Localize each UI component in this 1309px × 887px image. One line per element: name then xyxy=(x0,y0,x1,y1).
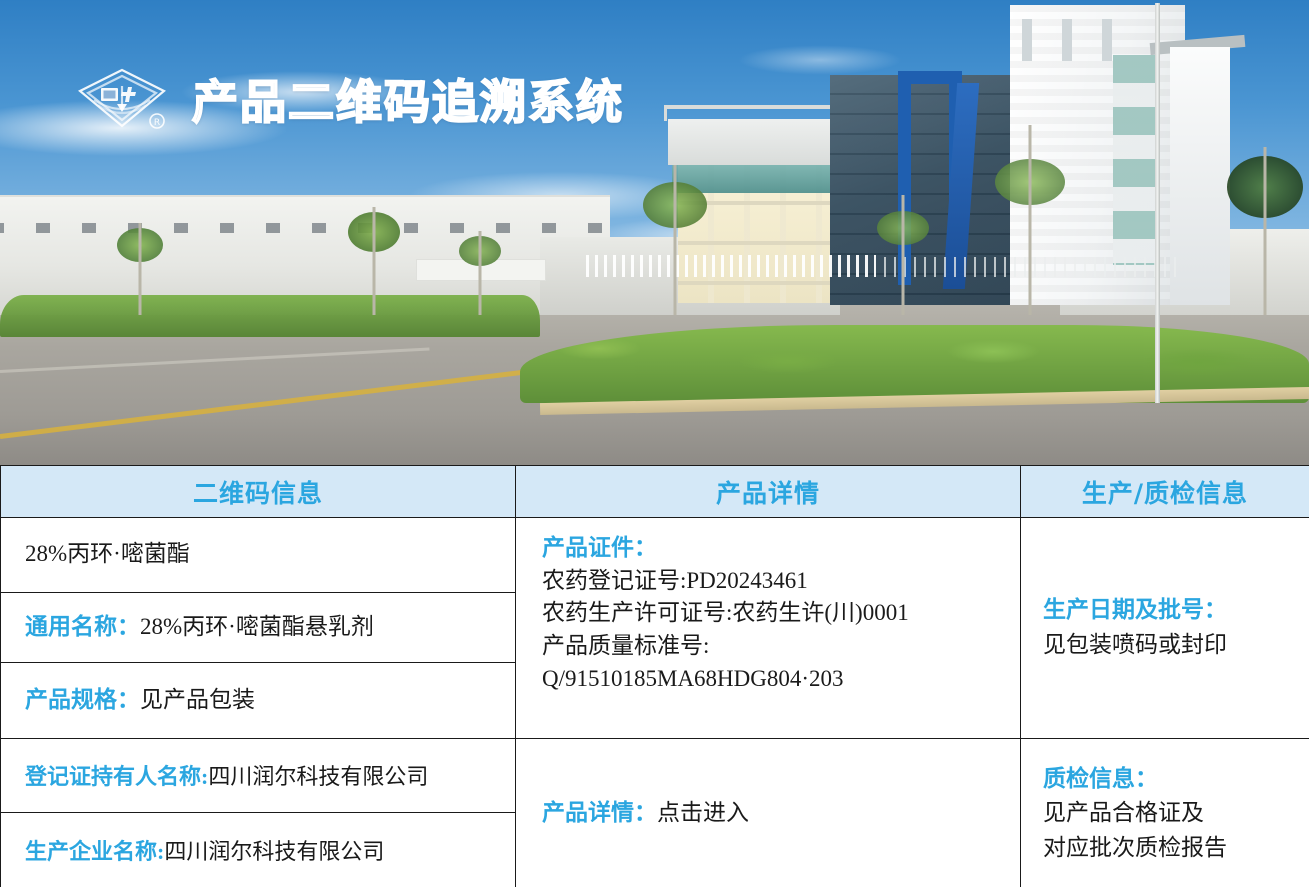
column-header-production-qc: 生产/质检信息 xyxy=(1021,466,1309,518)
tree xyxy=(462,231,498,315)
quality-standard-number: Q/91510185MA68HDG804·203 xyxy=(542,663,994,696)
column-header-product-detail-label: 产品详情 xyxy=(716,479,820,508)
qc-row-info: 质检信息： 见产品合格证及 对应批次质检报告 xyxy=(1021,738,1309,887)
tree xyxy=(120,223,160,315)
column-header-production-qc-label: 生产/质检信息 xyxy=(1082,479,1248,508)
tree xyxy=(880,195,926,315)
qc-info-label: 质检信息： xyxy=(1043,762,1287,797)
date-batch-value: 见包装喷码或封印 xyxy=(1043,628,1287,663)
quality-standard-label: 产品质量标准号: xyxy=(542,630,994,663)
spec-label: 产品规格： xyxy=(25,687,140,712)
qc-info-cell: 质检信息： 见产品合格证及 对应批次质检报告 xyxy=(1021,738,1309,887)
qr-row-product-name: 28%丙环·嘧菌酯 xyxy=(1,518,515,592)
common-name-label: 通用名称： xyxy=(25,614,140,639)
common-name-value: 28%丙环·嘧菌酯悬乳剂 xyxy=(140,614,374,639)
product-detail-link[interactable]: 点击进入 xyxy=(657,800,749,825)
qr-info-cell: 28%丙环·嘧菌酯 通用名称：28%丙环·嘧菌酯悬乳剂 产品规格：见产品包装 xyxy=(1,518,516,887)
common-name-cell: 通用名称：28%丙环·嘧菌酯悬乳剂 xyxy=(1,592,515,662)
holder-cell: 登记证持有人名称:四川润尔科技有限公司 xyxy=(1,738,515,812)
page-title: 产品二维码追溯系统 xyxy=(192,66,624,132)
spec-value: 见产品包装 xyxy=(140,687,255,712)
product-detail-link-cell[interactable]: 产品详情：点击进入 xyxy=(516,738,1020,887)
product-detail-cell: 产品证件： 农药登记证号:PD20243461 农药生产许可证号:农药生许(川)… xyxy=(516,518,1021,887)
detail-row-certificates: 产品证件： 农药登记证号:PD20243461 农药生产许可证号:农药生许(川)… xyxy=(516,518,1020,738)
spec-cell: 产品规格：见产品包装 xyxy=(1,662,515,738)
certificates-label: 产品证件： xyxy=(542,532,994,565)
production-license-number: 农药生产许可证号:农药生许(川)0001 xyxy=(542,597,994,630)
product-detail-link-label: 产品详情： xyxy=(542,800,657,825)
registration-number: 农药登记证号:PD20243461 xyxy=(542,565,994,598)
guoguang-diamond-logo-icon: R xyxy=(74,66,170,132)
hedge-row-left xyxy=(0,295,540,337)
qr-row-holder: 登记证持有人名称:四川润尔科技有限公司 xyxy=(1,738,515,812)
detail-row-link: 产品详情：点击进入 xyxy=(516,738,1020,887)
qr-row-manufacturer: 生产企业名称:四川润尔科技有限公司 xyxy=(1,812,515,887)
tower-teal-windows xyxy=(1113,55,1155,265)
column-header-qr-info-label: 二维码信息 xyxy=(193,479,323,508)
manufacturer-label: 生产企业名称: xyxy=(25,839,164,864)
date-batch-label: 生产日期及批号： xyxy=(1043,593,1287,628)
table-row: 28%丙环·嘧菌酯 通用名称：28%丙环·嘧菌酯悬乳剂 产品规格：见产品包装 xyxy=(1,518,1309,887)
street-lamp-pole xyxy=(1155,3,1160,403)
date-batch-cell: 生产日期及批号： 见包装喷码或封印 xyxy=(1021,518,1309,738)
column-header-qr-info: 二维码信息 xyxy=(1,466,516,518)
qc-info-value-line2: 对应批次质检报告 xyxy=(1043,831,1287,866)
page-root: R 产品二维码追溯系统 二维码信息 产品详情 生产/质检信息 xyxy=(0,0,1309,887)
qc-info-value-line1: 见产品合格证及 xyxy=(1043,796,1287,831)
brand-lockup: R 产品二维码追溯系统 xyxy=(74,66,624,132)
product-name-value: 28%丙环·嘧菌酯 xyxy=(25,541,190,566)
manufacturer-cell: 生产企业名称:四川润尔科技有限公司 xyxy=(1,812,515,887)
tree xyxy=(1000,125,1060,315)
column-header-product-detail: 产品详情 xyxy=(516,466,1021,518)
holder-value: 四川润尔科技有限公司 xyxy=(208,764,428,789)
tree xyxy=(1232,147,1298,315)
holder-label: 登记证持有人名称: xyxy=(25,764,208,789)
certificates-cell: 产品证件： 农药登记证号:PD20243461 农药生产许可证号:农药生许(川)… xyxy=(516,518,1020,738)
tree xyxy=(648,165,702,315)
production-qc-cell: 生产日期及批号： 见包装喷码或封印 质检信息： 见产品合格证及 对应批次质检 xyxy=(1021,518,1309,887)
traceability-info-table: 二维码信息 产品详情 生产/质检信息 28%丙环·嘧菌酯 xyxy=(0,465,1309,887)
qr-row-spec: 产品规格：见产品包装 xyxy=(1,662,515,738)
qc-row-date-batch: 生产日期及批号： 见包装喷码或封印 xyxy=(1021,518,1309,738)
manufacturer-value: 四川润尔科技有限公司 xyxy=(164,839,384,864)
tree xyxy=(352,207,396,315)
hero-banner-photo: R 产品二维码追溯系统 xyxy=(0,0,1309,465)
white-fence xyxy=(586,255,876,277)
qr-row-common-name: 通用名称：28%丙环·嘧菌酯悬乳剂 xyxy=(1,592,515,662)
svg-text:R: R xyxy=(154,118,160,128)
table-header-row: 二维码信息 产品详情 生产/质检信息 xyxy=(1,466,1309,518)
product-name-cell: 28%丙环·嘧菌酯 xyxy=(1,518,515,592)
